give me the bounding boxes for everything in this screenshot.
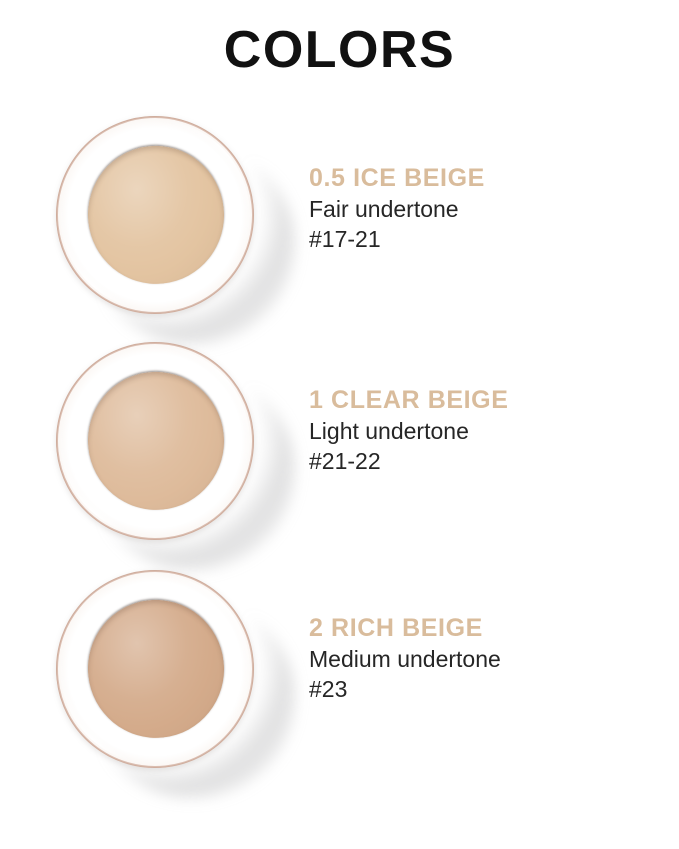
shade-undertone: Fair undertone [309,194,649,224]
shade-name: 2 RICH BEIGE [309,614,649,643]
shade-code: #21-22 [309,446,649,476]
product-jar [44,334,274,560]
shade-row: 1 CLEAR BEIGE Light undertone #21-22 [0,334,679,560]
product-jar [44,562,274,788]
shade-name: 0.5 ICE BEIGE [309,164,649,193]
shade-info: 2 RICH BEIGE Medium undertone #23 [309,614,649,704]
product-jar [44,108,274,334]
shade-code: #17-21 [309,224,649,254]
shade-name: 1 CLEAR BEIGE [309,386,649,415]
shade-undertone: Medium undertone [309,644,649,674]
shade-undertone: Light undertone [309,416,649,446]
shade-code: #23 [309,674,649,704]
shade-info: 1 CLEAR BEIGE Light undertone #21-22 [309,386,649,476]
colors-chart-page: COLORS 0.5 ICE BEIGE Fair undertone #17-… [0,0,679,849]
shade-info: 0.5 ICE BEIGE Fair undertone #17-21 [309,164,649,254]
shade-row: 0.5 ICE BEIGE Fair undertone #17-21 [0,108,679,334]
shade-row: 2 RICH BEIGE Medium undertone #23 [0,562,679,788]
page-title: COLORS [0,24,679,76]
